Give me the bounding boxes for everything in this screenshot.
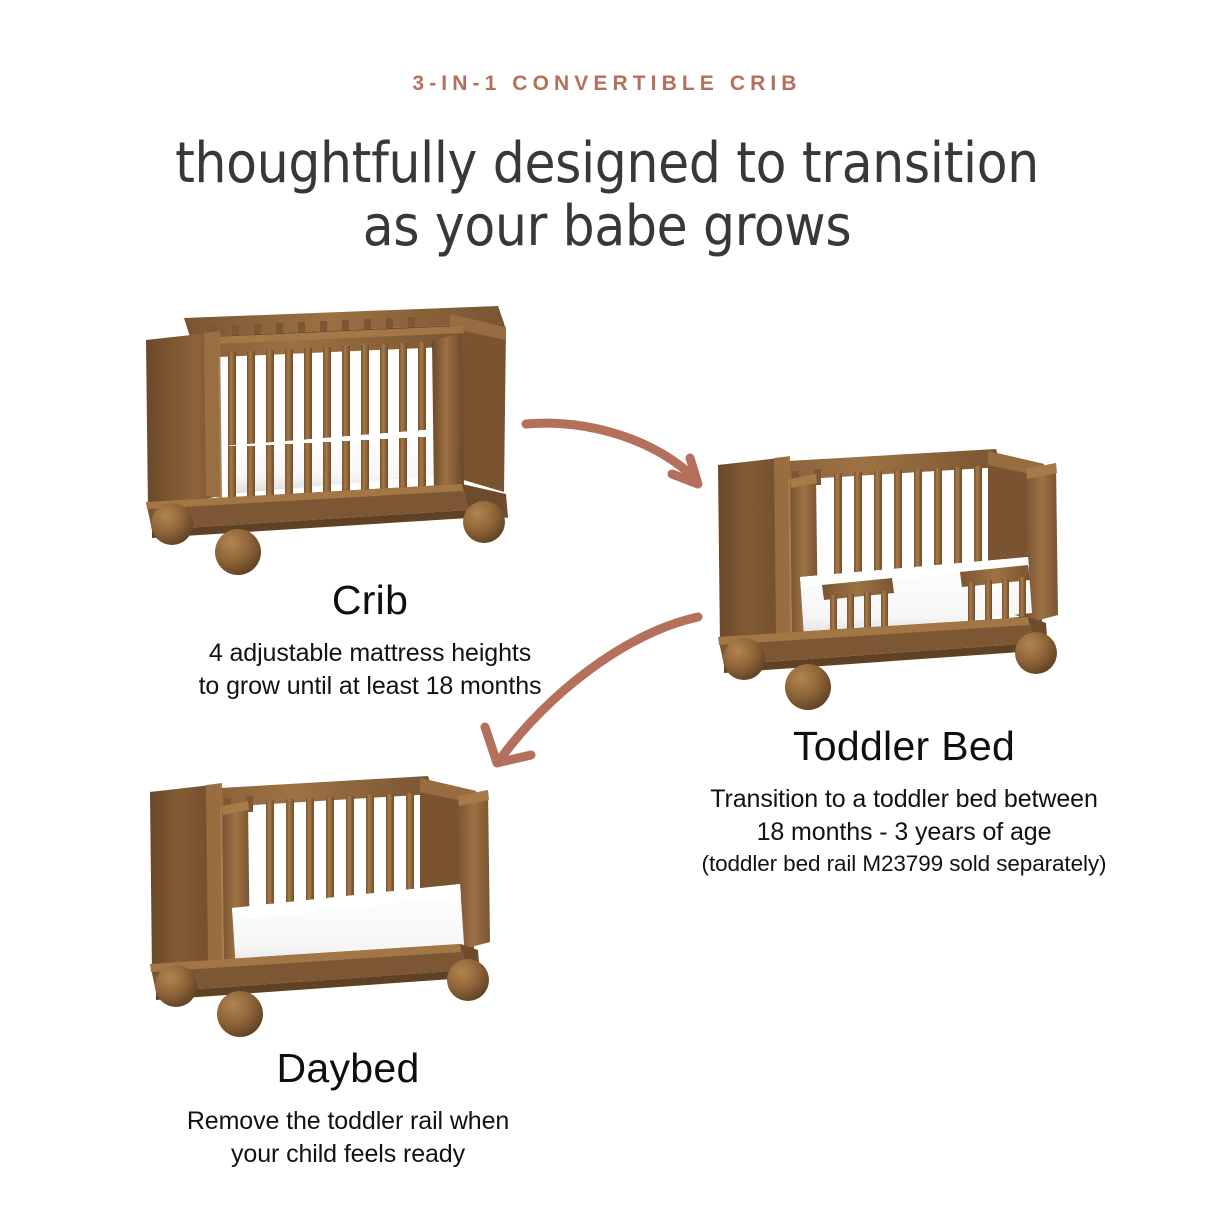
toddler-bed-illustration xyxy=(696,437,1100,707)
stage-caption-crib-line-1: 4 adjustable mattress heights xyxy=(70,637,670,670)
crib-illustration xyxy=(132,296,528,581)
stage-caption-daybed-line-1: Remove the toddler rail when xyxy=(48,1105,648,1138)
stage-caption-daybed-line-2: your child feels ready xyxy=(48,1138,648,1171)
stage-title-crib: Crib xyxy=(70,578,670,623)
stage-caption-crib-line-2: to grow until at least 18 months xyxy=(70,670,670,703)
headline-line-2: as your babe grows xyxy=(0,195,1214,258)
stage-caption-toddler-note: (toddler bed rail M23799 sold separately… xyxy=(604,849,1204,879)
daybed-illustration xyxy=(132,766,528,1031)
infographic-page: 3-IN-1 CONVERTIBLE CRIB thoughtfully des… xyxy=(0,0,1214,1214)
stage-caption-toddler-line-2: 18 months - 3 years of age xyxy=(604,816,1204,849)
page-title: thoughtfully designed to transition as y… xyxy=(0,132,1214,259)
eyebrow-label: 3-IN-1 CONVERTIBLE CRIB xyxy=(0,72,1214,96)
caption-crib: Crib 4 adjustable mattress heights to gr… xyxy=(70,578,670,703)
stage-caption-toddler-line-1: Transition to a toddler bed between xyxy=(604,783,1204,816)
stage-title-daybed: Daybed xyxy=(48,1046,648,1091)
caption-toddler-bed: Toddler Bed Transition to a toddler bed … xyxy=(604,724,1204,879)
caption-daybed: Daybed Remove the toddler rail when your… xyxy=(48,1046,648,1171)
stage-title-toddler: Toddler Bed xyxy=(604,724,1204,769)
headline-line-1: thoughtfully designed to transition xyxy=(0,132,1214,195)
